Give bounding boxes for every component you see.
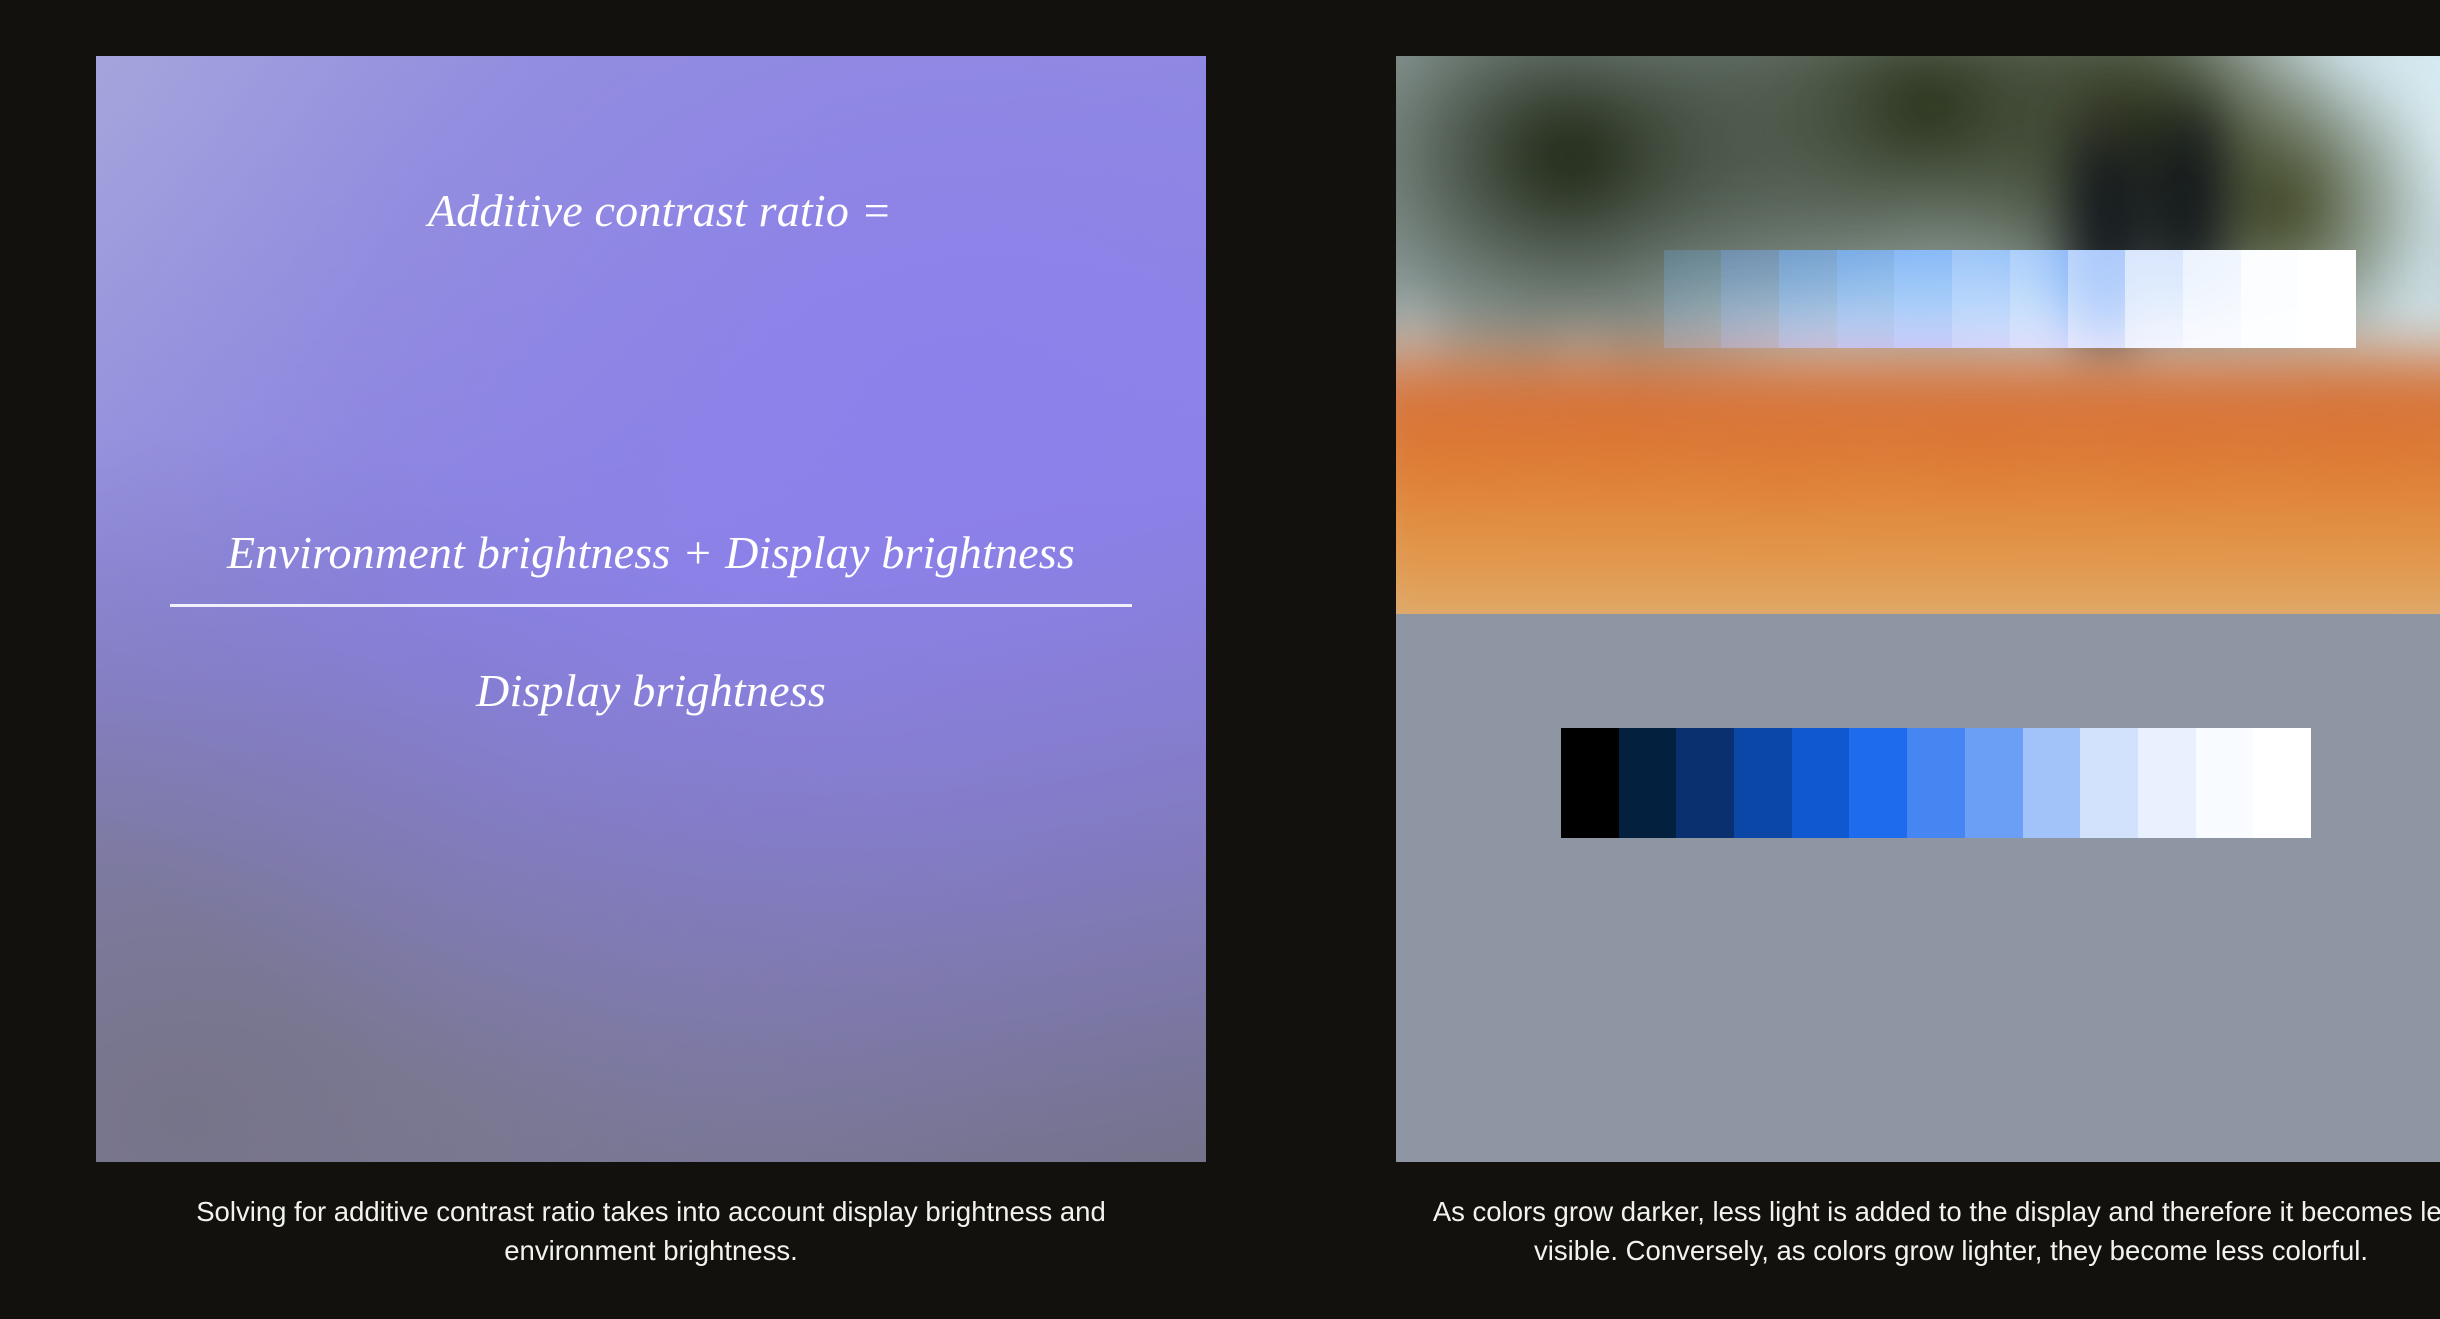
color-swatch: [2068, 250, 2126, 348]
color-swatch: [1837, 250, 1895, 348]
figure-additive-color-swatches: As colors grow darker, less light is add…: [1396, 56, 2440, 1270]
figure-grid: Additive contrast ratio = Environment br…: [0, 0, 2440, 1286]
formula-numerator: Environment brightness + Display brightn…: [96, 526, 1206, 579]
color-swatch: [2196, 728, 2254, 838]
figure-caption-right: As colors grow darker, less light is add…: [1396, 1192, 2440, 1270]
color-swatch: [2253, 728, 2311, 838]
color-swatch: [2125, 250, 2183, 348]
color-swatch: [1849, 728, 1907, 838]
color-swatch: [2010, 250, 2068, 348]
color-swatch: [2023, 728, 2081, 838]
color-swatch: [2183, 250, 2241, 348]
color-swatch: [2138, 728, 2196, 838]
additive-overlay-swatch-ramp: [1606, 250, 2356, 348]
color-swatch: [1734, 728, 1792, 838]
color-swatch: [1721, 250, 1779, 348]
color-swatch: [1664, 250, 1722, 348]
color-swatch: [2241, 250, 2299, 348]
figure-additive-contrast-formula: Additive contrast ratio = Environment br…: [96, 56, 1206, 1270]
formula-heading: Additive contrast ratio =: [96, 184, 1206, 237]
color-swatch: [1619, 728, 1677, 838]
color-swatch: [1894, 250, 1952, 348]
color-swatch: [1561, 728, 1619, 838]
figure-caption-left: Solving for additive contrast ratio take…: [96, 1192, 1206, 1270]
swatch-panel: [1396, 56, 2440, 1162]
color-swatch: [1907, 728, 1965, 838]
color-swatch: [1676, 728, 1734, 838]
formula-denominator: Display brightness: [96, 664, 1206, 717]
color-swatch: [1779, 250, 1837, 348]
color-swatch: [1952, 250, 2010, 348]
additive-contrast-formula: Additive contrast ratio = Environment br…: [96, 56, 1206, 1162]
color-swatch: [2080, 728, 2138, 838]
color-swatch: [1792, 728, 1850, 838]
color-swatch: [2298, 250, 2356, 348]
fraction-bar: [170, 604, 1132, 607]
color-swatch: [1965, 728, 2023, 838]
formula-panel: Additive contrast ratio = Environment br…: [96, 56, 1206, 1162]
market-photograph: [1396, 56, 2440, 614]
color-swatch: [1606, 250, 1664, 348]
solid-swatch-ramp: [1561, 728, 2311, 838]
